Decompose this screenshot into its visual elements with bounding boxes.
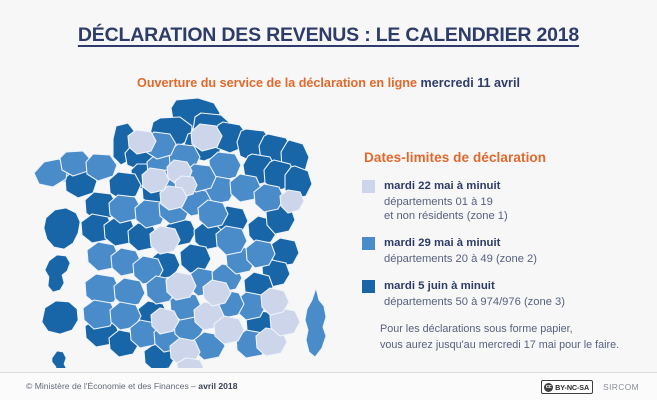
territory-martinique [52,351,67,368]
copyright-date: avril 2018 [198,381,237,391]
legend-date-zone1: mardi 22 mai à minuit [384,179,508,194]
copyright-prefix: © Ministère de l'Économie et des Finance… [26,381,198,391]
dept-zone1-calvados-light [128,130,156,154]
dept-zone1-indre [150,226,180,254]
note-line-1: Pour les déclarations sous forme papier, [380,322,650,338]
france-map [8,96,360,368]
legend-item-zone3: mardi 5 juin à minuit départements 50 à … [362,279,652,309]
legend-item-zone2: mardi 29 mai à minuit départements 20 à … [362,236,652,266]
legend-detail-zone2-line1: départements 20 à 49 (zone 2) [384,252,537,266]
dept-corsica [305,288,326,357]
legend-date-zone3: mardi 5 juin à minuit [384,279,565,294]
dept-zone2-saone-et-loire [216,226,247,255]
legend-panel: Dates-limites de déclaration mardi 22 ma… [362,150,652,322]
subtitle-opening-date: mercredi 11 avril [421,76,520,90]
copyright-text: © Ministère de l'Économie et des Finance… [26,381,237,391]
map-corsica [305,288,326,357]
infographic-canvas: DÉCLARATION DES REVENUS : LE CALENDRIER … [0,0,657,400]
dept-zone1-eure-et-loir [142,168,169,193]
legend-date-zone2: mardi 29 mai à minuit [384,236,537,251]
page-title: DÉCLARATION DES REVENUS : LE CALENDRIER … [0,24,657,47]
legend-heading: Dates-limites de déclaration [364,150,652,165]
subtitle-service-text: Ouverture du service de la déclaration e… [137,76,417,90]
legend-swatch-zone2 [362,237,375,250]
legend-detail-zone3-line1: départements 50 à 974/976 (zone 3) [384,295,565,309]
legend-detail-zone1-line2: et non résidents (zone 1) [384,209,508,223]
license-area: cc BY-NC-SA SIRCOM [541,380,639,394]
note-line-2: vous aurez jusqu'au mercredi 17 mai pour… [380,338,650,354]
dept-zone1-ain-light [191,124,222,151]
agency-label: SIRCOM [603,382,639,392]
paper-declaration-note: Pour les déclarations sous forme papier,… [380,322,650,353]
dept-zone3-allier [180,244,211,273]
legend-swatch-zone3 [362,280,375,293]
creative-commons-badge: cc BY-NC-SA [541,380,593,394]
territory-guyane [44,208,80,249]
legend-item-zone1: mardi 22 mai à minuit départements 01 à … [362,179,652,223]
legend-detail-zone1-line1: départements 01 à 19 [384,195,508,209]
creative-commons-icon: cc [544,383,553,392]
territory-guadeloupe [45,255,70,292]
territory-reunion [42,301,78,334]
map-overseas-territories [42,169,80,368]
legend-swatch-zone1 [362,180,375,193]
subtitle-line: Ouverture du service de la déclaration e… [0,76,657,90]
france-map-svg [8,96,360,368]
footer-divider [0,372,657,373]
license-terms: BY-NC-SA [555,383,589,392]
